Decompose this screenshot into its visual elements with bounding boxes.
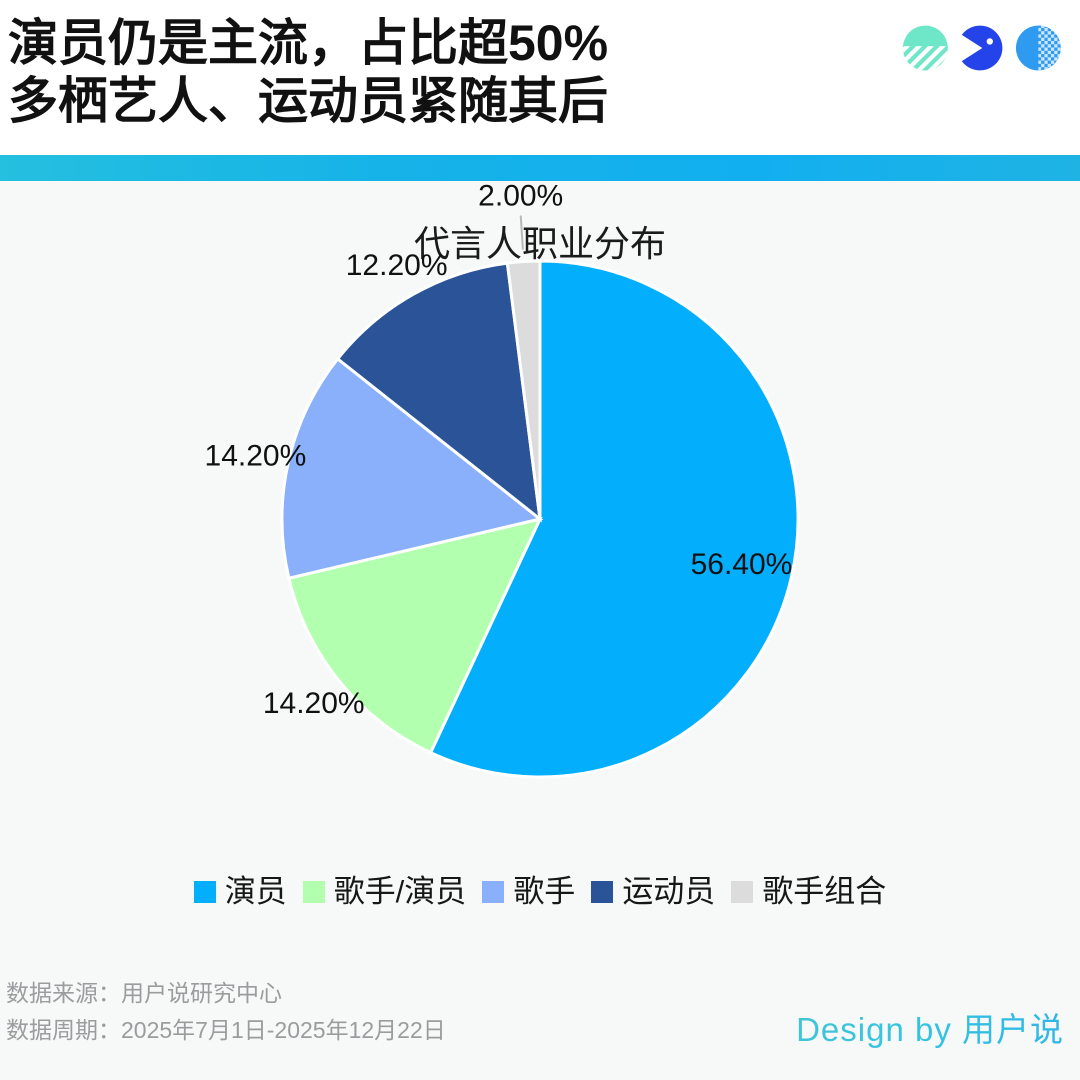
- legend-item[interactable]: 歌手: [482, 875, 575, 909]
- striped-circle-icon: [902, 23, 949, 73]
- legend-label: 运动员: [622, 875, 715, 909]
- page-title-line-1: 演员仍是主流，占比超50%: [8, 14, 768, 72]
- header: 演员仍是主流，占比超50% 多栖艺人、运动员紧随其后: [0, 0, 1080, 162]
- legend-item[interactable]: 运动员: [591, 875, 715, 909]
- brand-logo: [902, 20, 1062, 76]
- page-title-line-2: 多栖艺人、运动员紧随其后: [8, 72, 768, 130]
- legend-swatch-icon: [194, 881, 216, 903]
- legend-label: 歌手: [513, 875, 575, 909]
- pie-slice-label: 12.20%: [346, 249, 448, 282]
- pie-chart-svg: 56.40%14.20%14.20%12.20%2.00%: [0, 181, 1080, 881]
- pie-leader-line: [521, 216, 523, 250]
- legend-swatch-icon: [731, 881, 753, 903]
- pie-slice-label: 56.40%: [691, 548, 793, 581]
- page-title: 演员仍是主流，占比超50% 多栖艺人、运动员紧随其后: [8, 14, 768, 130]
- footer: 数据来源：用户说研究中心 数据周期：2025年7月1日-2025年12月22日 …: [0, 975, 1080, 1080]
- pie-leader-lines: [521, 216, 523, 250]
- legend-label: 演员: [225, 875, 287, 909]
- pie-slice-label: 14.20%: [263, 687, 365, 720]
- header-accent-bar: [0, 155, 1080, 181]
- legend-swatch-icon: [591, 881, 613, 903]
- chart-area: 代言人职业分布 56.40%14.20%14.20%12.20%2.00% 演员…: [0, 181, 1080, 961]
- footer-meta: 数据来源：用户说研究中心 数据周期：2025年7月1日-2025年12月22日: [6, 975, 446, 1049]
- data-period-line: 数据周期：2025年7月1日-2025年12月22日: [6, 1012, 446, 1049]
- legend-item[interactable]: 演员: [194, 875, 287, 909]
- legend-item[interactable]: 歌手组合: [731, 875, 886, 909]
- chart-legend: 演员歌手/演员歌手运动员歌手组合: [0, 875, 1080, 909]
- design-credit: Design by 用户说: [796, 1003, 1064, 1051]
- legend-label: 歌手/演员: [334, 875, 467, 909]
- pie-slice-label: 2.00%: [478, 181, 563, 213]
- legend-item[interactable]: 歌手/演员: [303, 875, 467, 909]
- legend-label: 歌手组合: [762, 875, 886, 909]
- legend-swatch-icon: [303, 881, 325, 903]
- checkered-circle-icon: [1015, 23, 1062, 73]
- data-source-line: 数据来源：用户说研究中心: [6, 975, 446, 1012]
- pacman-circle-icon: [959, 23, 1006, 73]
- legend-swatch-icon: [482, 881, 504, 903]
- pie-slice-label: 14.20%: [205, 440, 307, 473]
- pie-chart: 56.40%14.20%14.20%12.20%2.00%: [0, 181, 1080, 881]
